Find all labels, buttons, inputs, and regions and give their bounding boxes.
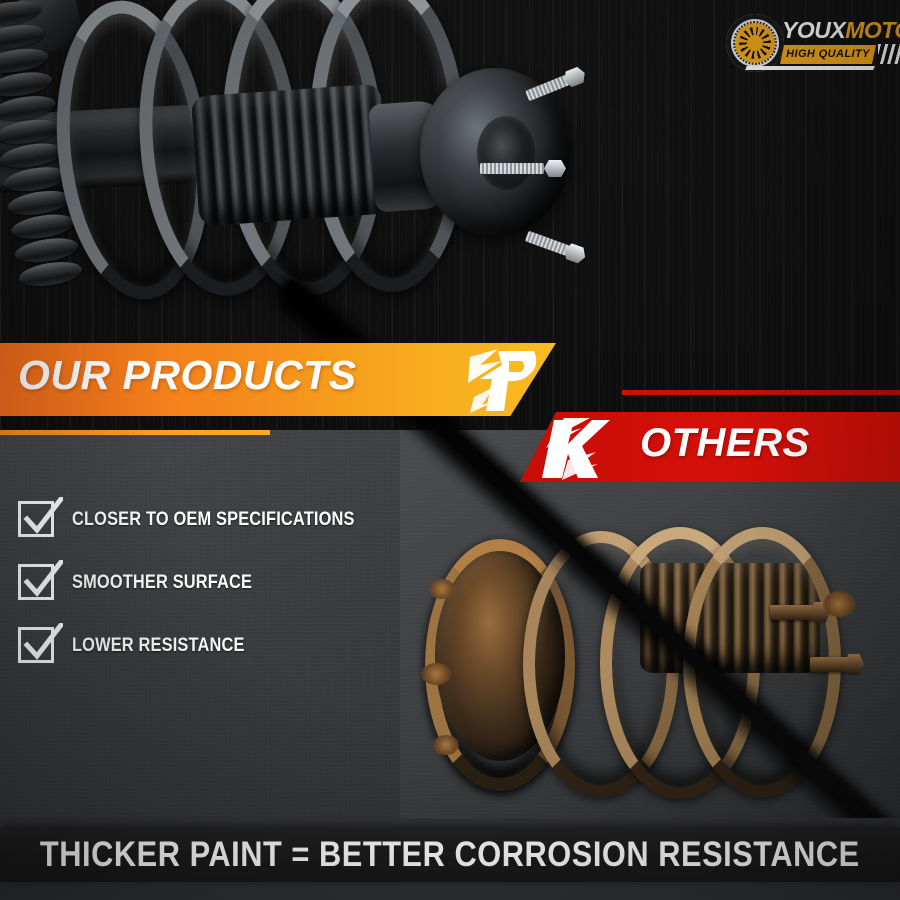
- checkbox-checked-icon: [18, 627, 54, 663]
- feature-label: Smoother Surface: [72, 571, 252, 594]
- feature-item: Lower Resistance: [18, 626, 398, 664]
- feature-label: Lower Resistance: [72, 634, 245, 657]
- brand-logo: YOUXMOTO HIGH QUALITY: [726, 12, 886, 74]
- others-label: OTHERS: [640, 421, 810, 466]
- logo-speed-stripes-icon: [878, 44, 900, 64]
- feature-label: Closer to OEM Specifications: [72, 508, 355, 531]
- k-lightning-glyph: [538, 418, 610, 480]
- footer-tagline: Thicker Paint = Better Corrosion Resista…: [40, 835, 860, 875]
- wheel-rim-icon: [735, 23, 775, 63]
- brand-name: YOUXMOTO: [782, 19, 900, 42]
- brand-tagline: HIGH QUALITY: [782, 45, 874, 64]
- feature-item: Smoother Surface: [18, 563, 398, 601]
- others-accent-line: [622, 390, 900, 395]
- infographic-canvas: YOUXMOTO HIGH QUALITY OUR PRODUCTS OTHER…: [0, 0, 900, 900]
- checkbox-checked-icon: [18, 564, 54, 600]
- p-lightning-glyph: [468, 349, 540, 413]
- brand-tagline-band: HIGH QUALITY: [780, 45, 876, 64]
- checkbox-checked-icon: [18, 501, 54, 537]
- our-products-accent-line: [0, 430, 270, 435]
- our-products-label: OUR PRODUCTS: [18, 352, 357, 399]
- logo-underline: [745, 66, 875, 70]
- feature-list: Closer to OEM Specifications Smoother Su…: [18, 500, 398, 689]
- brand-name-part1: YOUX: [782, 17, 845, 43]
- strut-bellows-boot: [191, 84, 390, 227]
- brand-name-part2: MOTO: [845, 17, 900, 43]
- feature-item: Closer to OEM Specifications: [18, 500, 398, 538]
- footer-banner: Thicker Paint = Better Corrosion Resista…: [0, 828, 900, 882]
